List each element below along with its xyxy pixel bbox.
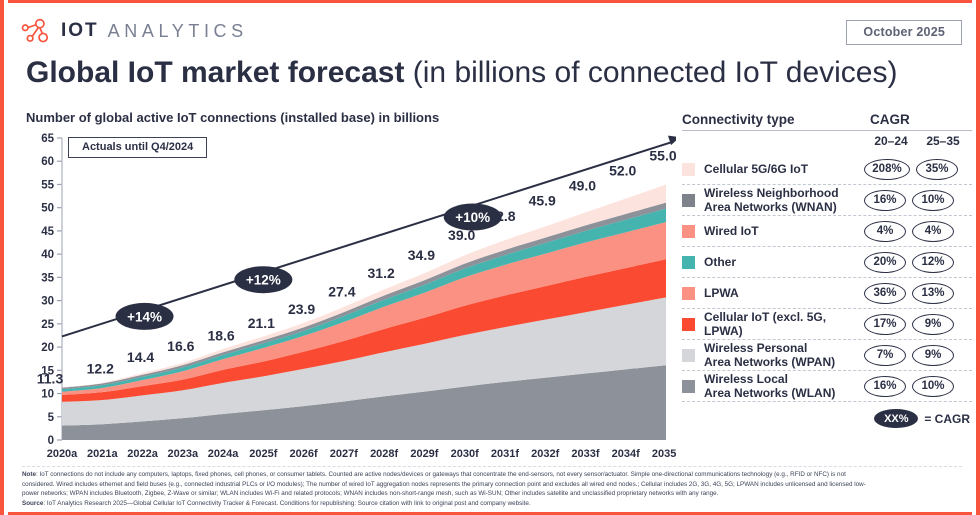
legend-color-swatch: [682, 256, 695, 269]
legend-cagr-25-35: 9%: [912, 314, 954, 335]
legend-color-swatch: [682, 225, 695, 238]
cagr-bubble-label: +12%: [246, 273, 281, 288]
legend-cagr-25-35: 12%: [912, 252, 954, 273]
legend-cagr-20-24: 17%: [864, 314, 906, 335]
chart-subtitle: Number of global active IoT connections …: [26, 110, 439, 125]
legend-item[interactable]: Wireless NeighborhoodArea Networks (WNAN…: [682, 185, 972, 216]
y-axis-tick-label: 55: [41, 179, 54, 191]
y-axis-tick-label: 40: [41, 249, 54, 261]
x-axis-tick-label: 2028f: [370, 448, 398, 460]
data-point-label: 45.9: [529, 193, 556, 209]
legend-cagr-25-35: 9%: [912, 345, 954, 366]
legend-cagr-20-24: 20%: [864, 252, 906, 273]
logo-text-analytics: ANALYTICS: [108, 21, 248, 42]
data-point-label: 27.4: [328, 284, 355, 300]
legend-subheader: 20–24 25–35: [682, 131, 972, 148]
x-axis-tick-label: 2026f: [290, 448, 318, 460]
legend-item-label: Wireless NeighborhoodArea Networks (WNAN…: [704, 186, 864, 214]
x-axis-tick-label: 2027f: [330, 448, 358, 460]
data-point-label: 16.6: [167, 338, 194, 354]
cagr-bubble-label: +14%: [127, 309, 162, 324]
data-point-label: 12.2: [87, 360, 114, 376]
legend-header-type: Connectivity type: [682, 112, 864, 131]
legend-subheader-spacer: [682, 134, 864, 148]
legend-item[interactable]: Other20%12%: [682, 247, 972, 278]
x-axis-tick-label: 2022a: [127, 448, 158, 460]
y-axis-tick-label: 5: [48, 412, 55, 424]
page-header: IOT ANALYTICS October 2025: [4, 0, 976, 52]
legend-cagr-20-24: 208%: [864, 159, 910, 180]
legend-cagr-25-35: 13%: [912, 283, 954, 304]
legend-color-swatch: [682, 380, 695, 393]
footnote: Note: IoT connections do not include any…: [22, 466, 962, 508]
legend-item[interactable]: Wireless LocalArea Networks (WLAN)16%10%: [682, 371, 972, 402]
legend-cagr-25-35: 10%: [912, 376, 954, 397]
footnote-source-label: Source: [22, 500, 43, 507]
cagr-key: XX% = CAGR: [682, 409, 972, 428]
x-axis-tick-label: 2030f: [451, 448, 479, 460]
legend-col-b-label: 25–35: [918, 134, 968, 148]
actuals-annotation: Actuals until Q4/2024: [68, 137, 207, 158]
legend-item-label: Cellular IoT (excl. 5G, LPWA): [704, 310, 864, 338]
y-axis-tick-label: 30: [41, 296, 54, 308]
legend-cagr-25-35: 35%: [916, 159, 958, 180]
legend-cagr-20-24: 16%: [864, 190, 906, 211]
legend-color-swatch: [682, 318, 695, 331]
y-axis-tick-label: 35: [41, 272, 54, 284]
footnote-note-label: Note: [22, 471, 36, 478]
footnote-line-2: considered. Wired includes ethernet and …: [22, 480, 962, 490]
stacked-area-chart: 0510152025303540455055606511.312.214.416…: [26, 130, 676, 465]
y-axis-tick-label: 60: [41, 156, 54, 168]
page-title: Global IoT market forecast (in billions …: [26, 54, 897, 92]
data-point-label: 21.1: [248, 315, 275, 331]
legend-cagr-25-35: 10%: [912, 190, 954, 211]
legend-item-label: Cellular 5G/6G IoT: [704, 162, 864, 176]
footnote-line-3: power networks; WPAN includes Bluetooth,…: [22, 489, 962, 499]
data-point-label: 55.0: [649, 147, 676, 163]
x-axis-tick-label: 2032f: [531, 448, 559, 460]
y-axis-tick-label: 65: [41, 133, 54, 145]
legend-header: Connectivity type CAGR: [682, 112, 972, 131]
legend-cagr-25-35: 4%: [912, 221, 954, 242]
legend-item-label: Wired IoT: [704, 224, 864, 238]
legend-cagr-20-24: 4%: [864, 221, 906, 242]
legend-item[interactable]: Cellular 5G/6G IoT208%35%: [682, 154, 972, 185]
date-badge: October 2025: [846, 20, 962, 45]
y-axis-tick-label: 25: [41, 319, 54, 331]
legend-header-cagr: CAGR: [864, 112, 972, 131]
legend-item-label: Other: [704, 255, 864, 269]
cagr-key-pill: XX%: [874, 409, 918, 428]
y-axis-tick-label: 10: [41, 389, 54, 401]
legend-item-label: LPWA: [704, 286, 864, 300]
legend-item[interactable]: Cellular IoT (excl. 5G, LPWA)17%9%: [682, 309, 972, 340]
legend-cagr-20-24: 16%: [864, 376, 906, 397]
data-point-label: 52.0: [609, 162, 636, 178]
footnote-source-text: : IoT Analytics Research 2025—Global Cel…: [43, 500, 530, 507]
data-point-label: 14.4: [127, 349, 154, 365]
chart-legend: Connectivity type CAGR 20–24 25–35 Cellu…: [682, 112, 972, 428]
data-point-label: 31.2: [368, 265, 395, 281]
x-axis-tick-label: 2023a: [168, 448, 199, 460]
legend-cagr-20-24: 7%: [864, 345, 906, 366]
y-axis-tick-label: 20: [41, 342, 54, 354]
x-axis-tick-label: 2021a: [87, 448, 118, 460]
legend-color-swatch: [682, 163, 695, 176]
footnote-line-1: Note: IoT connections do not include any…: [22, 470, 962, 480]
legend-col-a-label: 20–24: [864, 134, 918, 148]
legend-color-swatch: [682, 287, 695, 300]
y-axis-tick-label: 50: [41, 203, 54, 215]
x-axis-tick-label: 2034f: [612, 448, 640, 460]
x-axis-tick-label: 2029f: [410, 448, 438, 460]
chart-plot-area: 0510152025303540455055606511.312.214.416…: [26, 130, 676, 465]
page-title-light: (in billions of connected IoT devices): [413, 56, 898, 89]
legend-row-list: Cellular 5G/6G IoT208%35%Wireless Neighb…: [682, 154, 972, 402]
data-point-label: 23.9: [288, 301, 315, 317]
y-axis-tick-label: 45: [41, 226, 54, 238]
x-axis-tick-label: 2020a: [47, 448, 78, 460]
data-point-label: 18.6: [207, 328, 234, 344]
page-title-bold: Global IoT market forecast: [26, 56, 413, 89]
cagr-key-text: = CAGR: [924, 412, 970, 426]
legend-cagr-20-24: 36%: [864, 283, 906, 304]
cagr-bubble-label: +10%: [455, 210, 490, 225]
legend-item[interactable]: Wired IoT4%4%: [682, 216, 972, 247]
x-axis-tick-label: 2024a: [208, 448, 239, 460]
page-frame: IOT ANALYTICS October 2025 Global IoT ma…: [0, 0, 980, 515]
data-point-label: 11.3: [37, 370, 64, 386]
x-axis: 2020a2021a2022a2023a2024a2025f2026f2027f…: [47, 448, 676, 460]
x-axis-tick-label: 2025f: [249, 448, 277, 460]
legend-item-label: Wireless LocalArea Networks (WLAN): [704, 372, 864, 400]
y-axis-tick-label: 0: [48, 435, 54, 447]
legend-item[interactable]: Wireless PersonalArea Networks (WPAN)7%9…: [682, 340, 972, 371]
legend-item[interactable]: LPWA36%13%: [682, 278, 972, 309]
logo-text-iot: IOT: [61, 20, 99, 42]
x-axis-tick-label: 2035f: [652, 448, 676, 460]
legend-color-swatch: [682, 194, 695, 207]
x-axis-tick-label: 2033f: [571, 448, 599, 460]
footnote-line-4: Source: IoT Analytics Research 2025—Glob…: [22, 499, 962, 509]
y-axis: 05101520253035404550556065: [41, 133, 62, 447]
data-point-label: 49.0: [569, 177, 596, 193]
legend-item-label: Wireless PersonalArea Networks (WPAN): [704, 341, 864, 369]
data-point-label: 34.9: [408, 247, 435, 263]
iot-analytics-network-logo-icon: [18, 18, 52, 44]
brand-logo: IOT ANALYTICS: [18, 18, 248, 44]
legend-color-swatch: [682, 349, 695, 362]
x-axis-tick-label: 2031f: [491, 448, 519, 460]
footnote-note-text-1: : IoT connections do not include any com…: [36, 471, 846, 478]
